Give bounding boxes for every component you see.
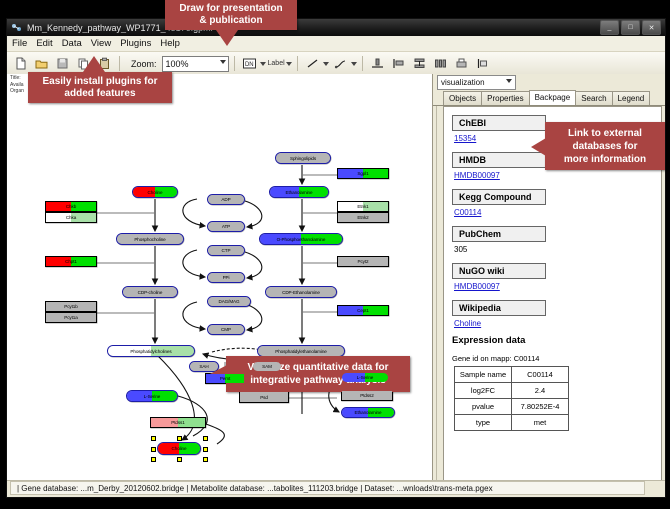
visualization-value: visualization [441, 78, 485, 87]
metabolite-node-ethanolamine[interactable]: Ethanolamine [269, 186, 329, 198]
metabolite-node-ppi[interactable]: PPi [207, 272, 245, 283]
toolbar-separator [362, 56, 363, 71]
node-label: ATP [222, 224, 230, 229]
node-label: Etnk1 [357, 204, 368, 209]
node-label: Choline [148, 190, 163, 195]
interaction-icon[interactable] [331, 54, 350, 73]
chevron-down-icon[interactable] [286, 62, 292, 66]
exp-label-log2fc: log2FC [455, 383, 512, 399]
db-link-kegg[interactable]: C00114 [454, 208, 661, 217]
node-label: PPi [223, 275, 230, 280]
gene-node-chpt1[interactable]: Chpt1 [45, 256, 97, 267]
expression-data-heading: Expression data [452, 335, 661, 346]
menu-edit[interactable]: Edit [36, 38, 52, 49]
node-label: Pcyt1a [64, 315, 77, 320]
resize-handle[interactable] [203, 436, 208, 441]
new-file-icon[interactable] [11, 54, 30, 73]
callout-plugins: Easily install plugins for added feature… [28, 72, 172, 103]
backpage-scrollbar[interactable] [436, 106, 443, 497]
metabolite-node-phosphatidylethanolamine[interactable]: Phosphatidylethanolamine [257, 345, 345, 357]
tab-legend[interactable]: Legend [612, 91, 651, 105]
db-entry-pubchem: PubChem 305 [452, 224, 661, 254]
distribute-icon[interactable] [431, 54, 450, 73]
gene-node-pcyt1a[interactable]: Pcyt1a [45, 312, 97, 323]
statusbar-inner: | Gene database: ...m_Derby_20120602.bri… [10, 481, 645, 495]
node-label: CDP-choline [138, 290, 163, 295]
db-name-pubchem: PubChem [452, 226, 546, 242]
statusbar-text: | Gene database: ...m_Derby_20120602.bri… [11, 484, 493, 493]
db-entry-wikipedia: Wikipedia Choline [452, 298, 661, 328]
chevron-down-icon[interactable] [506, 79, 512, 83]
menu-file[interactable]: File [12, 38, 27, 49]
resize-handle[interactable] [151, 457, 156, 462]
node-label: Ptdss2 [360, 393, 373, 398]
callout-draw-arrow-icon [216, 30, 238, 46]
resize-handle[interactable] [151, 447, 156, 452]
node-label: L-Serine [357, 375, 374, 380]
panel-tabs: Objects Properties Backpage Search Legen… [433, 91, 665, 106]
gene-id-on-mapp: Gene id on mapp: C00114 [452, 354, 661, 363]
close-button[interactable]: ✕ [642, 20, 661, 35]
resize-handle[interactable] [177, 457, 182, 462]
menu-data[interactable]: Data [62, 38, 82, 49]
table-row: type met [455, 415, 569, 431]
tab-objects[interactable]: Objects [443, 91, 482, 105]
node-label: CDP-Ethanolamine [282, 290, 320, 295]
metabolite-node-choline[interactable]: Choline [132, 186, 178, 198]
metabolite-node-sah[interactable]: SAH [189, 361, 219, 372]
callout-link: Link to external databases for more info… [545, 122, 665, 170]
node-label: Pemt [220, 376, 230, 381]
statusbar: | Gene database: ...m_Derby_20120602.bri… [7, 480, 665, 497]
db-name-nugo: NuGO wiki [452, 263, 546, 279]
metabolite-node-choline[interactable]: Choline [157, 442, 201, 455]
window-titlebar: Mm_Kennedy_pathway_WP1771_45176.gpml _ □… [7, 19, 665, 36]
resize-handle[interactable] [203, 447, 208, 452]
node-label: Sphingolipids [290, 156, 316, 161]
toolbar-separator [119, 56, 120, 71]
metabolite-node-dag-mag[interactable]: DAG/MAG [207, 296, 251, 307]
node-label: L-Serine [144, 394, 161, 399]
callout-link-line2: databases for [564, 140, 646, 153]
pathway-edges [7, 74, 432, 497]
gene-node-pemt[interactable]: Pemt [205, 373, 245, 384]
node-label: Sgpl1 [357, 171, 368, 176]
table-row: Sample name C00114 [455, 367, 569, 383]
label-tool-text: Label [268, 60, 285, 67]
datanode-tool[interactable]: DN [240, 54, 266, 73]
label-tool[interactable]: Label [268, 60, 292, 67]
metabolite-node-o-phosphoethanolamine[interactable]: O-Phosphoethanolamine [259, 233, 343, 245]
chevron-down-icon[interactable] [260, 62, 266, 66]
node-label: Phosphocholine [134, 237, 165, 242]
chevron-down-icon[interactable] [220, 60, 226, 64]
tab-search[interactable]: Search [575, 91, 612, 105]
exp-label-type: type [455, 415, 512, 431]
db-link-hmdb[interactable]: HMDB00097 [454, 171, 661, 180]
tab-properties[interactable]: Properties [481, 91, 529, 105]
node-label: Ptdss1 [171, 420, 184, 425]
callout-draw: Draw for presentation & publication [165, 0, 297, 30]
node-label: Psd [260, 395, 268, 400]
menu-view[interactable]: View [91, 38, 111, 49]
callout-plugins-arrow-icon [83, 56, 105, 72]
db-name-kegg: Kegg Compound [452, 189, 546, 205]
gene-node-ptdss1[interactable]: Ptdss1 [150, 417, 206, 428]
table-row: pvalue 7.80252E-4 [455, 399, 569, 415]
node-label: Pcyt2 [358, 259, 369, 264]
gene-node-psd[interactable]: Psd [239, 391, 289, 403]
chevron-down-icon[interactable] [351, 62, 357, 66]
align-left-icon[interactable] [389, 54, 408, 73]
window-controls: _ □ ✕ [600, 20, 661, 35]
db-value-pubchem: 305 [454, 245, 661, 254]
metabolite-node-phosphatidylcholines[interactable]: Phosphatidylcholines [107, 345, 195, 357]
open-folder-icon[interactable] [32, 54, 51, 73]
toolbar-separator [234, 56, 235, 71]
callout-plugins-line2: added features [42, 88, 157, 100]
node-label: CMP [221, 327, 231, 332]
metabolite-node-cdp-choline[interactable]: CDP-choline [122, 286, 178, 298]
node-label: Chkb [66, 204, 76, 209]
print-icon[interactable] [452, 54, 471, 73]
datanode-icon[interactable]: DN [240, 54, 259, 73]
node-label: Chpt1 [65, 259, 77, 264]
node-label: Etnk2 [357, 215, 368, 220]
metabolite-node-ethanolamine[interactable]: Ethanolamine [341, 407, 395, 418]
db-name-chebi: ChEBI [452, 115, 546, 131]
expression-table: Sample name C00114 log2FC 2.4 pvalue 7.8… [454, 366, 569, 431]
metabolite-node-adp[interactable]: ADP [207, 194, 245, 205]
db-link-nugo[interactable]: HMDB00097 [454, 282, 661, 291]
callout-draw-line2: & publication [179, 15, 282, 27]
node-label: SAM [262, 364, 272, 369]
metabolite-node-sam[interactable]: SAM [252, 361, 282, 372]
gene-node-etnk1[interactable]: Etnk1 [337, 201, 389, 212]
callout-link-line1: Link to external [564, 127, 646, 140]
pathway-canvas[interactable]: Title: Availa Organ [7, 74, 433, 497]
exp-value-log2fc: 2.4 [512, 383, 569, 399]
db-name-wikipedia: Wikipedia [452, 300, 546, 316]
metabolite-node-ctp[interactable]: CTP [207, 245, 245, 256]
zoom-label: Zoom: [131, 59, 157, 69]
metabolite-node-cdp-ethanolamine[interactable]: CDP-Ethanolamine [265, 286, 337, 298]
zoom-value: 100% [166, 59, 189, 69]
interaction-tool[interactable] [331, 54, 357, 73]
db-link-wikipedia[interactable]: Choline [454, 319, 661, 328]
gene-node-ptdss2[interactable]: Ptdss2 [341, 390, 393, 401]
line-icon[interactable] [303, 54, 322, 73]
chevron-down-icon[interactable] [323, 62, 329, 66]
stack-center-icon[interactable] [410, 54, 429, 73]
resize-handle[interactable] [151, 436, 156, 441]
table-row: log2FC 2.4 [455, 383, 569, 399]
metabolite-node-cmp[interactable]: CMP [207, 324, 245, 335]
gene-node-pcyt1b[interactable]: Pcyt1b [45, 301, 97, 312]
node-label: Ethanolamine [286, 190, 313, 195]
resize-handle[interactable] [203, 457, 208, 462]
resize-handle[interactable] [177, 436, 182, 441]
exp-value-sample: C00114 [512, 367, 569, 383]
callout-link-line3: more information [564, 153, 646, 166]
node-label: Phosphatidylethanolamine [275, 349, 327, 354]
exp-value-pvalue: 7.80252E-4 [512, 399, 569, 415]
gene-node-etnk2[interactable]: Etnk2 [337, 212, 389, 223]
node-label: Chka [66, 215, 76, 220]
maximize-button[interactable]: □ [621, 20, 640, 35]
node-label: ADP [221, 197, 230, 202]
node-label: Pcyt1b [64, 304, 77, 309]
node-label: Choline [172, 446, 187, 451]
save-icon[interactable] [53, 54, 72, 73]
metabolite-node-sphingolipids[interactable]: Sphingolipids [275, 152, 331, 164]
pathvisio-icon [11, 22, 22, 33]
svg-text:DN: DN [244, 62, 253, 68]
menu-help[interactable]: Help [160, 38, 180, 49]
menu-plugins[interactable]: Plugins [120, 38, 151, 49]
node-label: Ethanolamine [355, 410, 382, 415]
visualization-row: visualization [433, 74, 665, 91]
exp-label-sample: Sample name [455, 367, 512, 383]
line-tool[interactable] [303, 54, 329, 73]
gene-node-chka[interactable]: Chka [45, 212, 97, 223]
gene-node-cept1[interactable]: Cept1 [337, 305, 389, 316]
gene-node-chkb[interactable]: Chkb [45, 201, 97, 212]
node-label: Cept1 [357, 308, 369, 313]
metabolite-node-atp[interactable]: ATP [207, 221, 245, 232]
pathway-drawing[interactable]: Title: Availa Organ [7, 74, 432, 496]
db-entry-nugo: NuGO wiki HMDB00097 [452, 261, 661, 291]
align-bottom-icon[interactable] [368, 54, 387, 73]
menubar: File Edit Data View Plugins Help [7, 36, 665, 52]
group-icon[interactable] [473, 54, 492, 73]
node-label: CTP [222, 248, 231, 253]
callout-draw-line1: Draw for presentation [179, 3, 282, 15]
db-entry-kegg: Kegg Compound C00114 [452, 187, 661, 217]
screenshot-root: Mm_Kennedy_pathway_WP1771_45176.gpml _ □… [0, 0, 670, 509]
metabolite-node-phosphocholine[interactable]: Phosphocholine [116, 233, 184, 245]
node-label: Phosphatidylcholines [130, 349, 171, 354]
exp-label-pvalue: pvalue [455, 399, 512, 415]
node-label: O-Phosphoethanolamine [277, 237, 326, 242]
metabolite-node-l-serine[interactable]: L-Serine [341, 372, 389, 383]
gene-node-pcyt2[interactable]: Pcyt2 [337, 256, 389, 267]
tab-backpage[interactable]: Backpage [529, 90, 577, 105]
node-label: SAH [199, 364, 208, 369]
metabolite-node-l-serine[interactable]: L-Serine [126, 390, 178, 402]
callout-link-arrow-icon [531, 138, 546, 156]
visualization-select[interactable]: visualization [437, 75, 516, 90]
callout-plugins-line1: Easily install plugins for [42, 76, 157, 88]
exp-value-type: met [512, 415, 569, 431]
zoom-input[interactable]: 100% [162, 56, 229, 72]
gene-node-sgpl1[interactable]: Sgpl1 [337, 168, 389, 179]
node-label: DAG/MAG [219, 299, 240, 304]
minimize-button[interactable]: _ [600, 20, 619, 35]
toolbar-separator [297, 56, 298, 71]
